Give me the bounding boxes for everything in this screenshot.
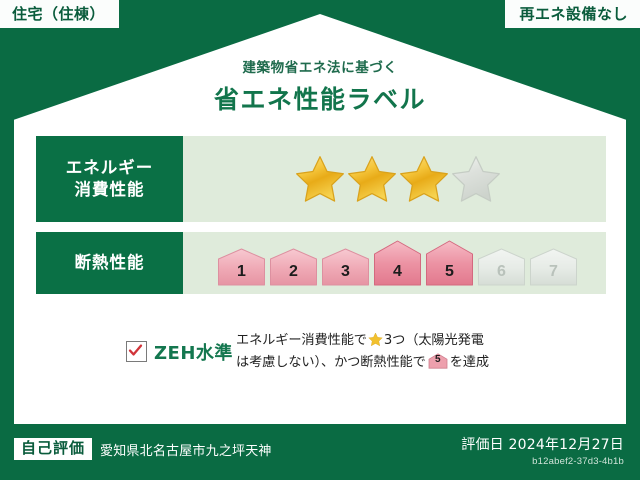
zeh-tag: ZEH水準 bbox=[36, 339, 236, 365]
house-level-scale: 1234567 bbox=[217, 240, 578, 286]
energy-rating-body bbox=[183, 136, 606, 222]
zeh-desc-part1: エネルギー消費性能で bbox=[236, 333, 367, 348]
energy-label-line2: 消費性能 bbox=[75, 179, 145, 201]
house-level-number: 5 bbox=[428, 352, 448, 369]
house-level-2: 2 bbox=[269, 248, 318, 286]
property-address: 愛知県北名古屋市九之坪天神 bbox=[100, 440, 272, 459]
house-level-number: 1 bbox=[217, 263, 266, 281]
energy-performance-row: エネルギー 消費性能 bbox=[36, 136, 606, 222]
house-level-number: 6 bbox=[477, 263, 526, 281]
insulation-label-line1: 断熱性能 bbox=[75, 252, 145, 274]
zeh-standard-block: ZEH水準 エネルギー消費性能で3つ（太陽光発電 は考慮しない）、かつ断熱性能で… bbox=[36, 330, 606, 374]
zeh-desc-part4: を達成 bbox=[450, 355, 489, 370]
zeh-standard-name: ZEH水準 bbox=[154, 339, 233, 365]
insulation-performance-row: 断熱性能 1234567 bbox=[36, 232, 606, 294]
house-level-number: 5 bbox=[425, 263, 474, 281]
self-evaluation-badge: 自己評価 bbox=[14, 438, 92, 460]
insulation-performance-label: 断熱性能 bbox=[36, 232, 183, 294]
house-level-number: 4 bbox=[373, 263, 422, 281]
footer-left-group: 自己評価 愛知県北名古屋市九之坪天神 bbox=[14, 438, 272, 460]
house-level-5: 5 bbox=[425, 240, 474, 286]
footer-right-group: 評価日 2024年12月27日 b12abef2-37d3-4b1b bbox=[461, 434, 624, 467]
insulation-rating-body: 1234567 bbox=[183, 232, 606, 294]
house-level-number: 2 bbox=[269, 263, 318, 281]
house-level-7: 7 bbox=[529, 248, 578, 286]
building-type-tag: 住宅（住棟） bbox=[0, 0, 119, 28]
metrics-container: エネルギー 消費性能 断熱性能 1234567 bbox=[36, 136, 606, 304]
zeh-desc-part3: は考慮しない）、かつ断熱性能で bbox=[236, 355, 426, 370]
label-title-block: 建築物省エネ法に基づく 省エネ性能ラベル bbox=[0, 56, 640, 116]
label-footer: 自己評価 愛知県北名古屋市九之坪天神 評価日 2024年12月27日 b12ab… bbox=[0, 424, 640, 480]
zeh-description: エネルギー消費性能で3つ（太陽光発電 は考慮しない）、かつ断熱性能で5を達成 bbox=[236, 330, 606, 374]
house-level-1: 1 bbox=[217, 248, 266, 286]
evaluation-id: b12abef2-37d3-4b1b bbox=[461, 456, 624, 467]
energy-performance-label: エネルギー 消費性能 bbox=[36, 136, 183, 222]
star-icon-empty bbox=[451, 154, 501, 204]
label-subtitle: 建築物省エネ法に基づく bbox=[0, 56, 640, 76]
house-level-4: 4 bbox=[373, 240, 422, 286]
zeh-desc-part2: 3つ（太陽光発電 bbox=[384, 333, 484, 348]
label-title: 省エネ性能ラベル bbox=[0, 80, 640, 116]
zeh-checkbox[interactable] bbox=[126, 341, 147, 362]
energy-performance-label: 住宅（住棟） 再エネ設備なし 建築物省エネ法に基づく 省エネ性能ラベル エネルギ… bbox=[0, 0, 640, 480]
house-level-number: 7 bbox=[529, 263, 578, 281]
energy-label-line1: エネルギー bbox=[66, 157, 154, 179]
house-icon: 5 bbox=[428, 353, 448, 369]
house-level-6: 6 bbox=[477, 248, 526, 286]
star-icon bbox=[368, 332, 383, 347]
star-icon-filled bbox=[347, 154, 397, 204]
evaluation-date: 評価日 2024年12月27日 bbox=[461, 434, 624, 454]
star-rating bbox=[295, 154, 501, 204]
house-level-3: 3 bbox=[321, 248, 370, 286]
house-level-number: 3 bbox=[321, 263, 370, 281]
checkmark-icon bbox=[128, 343, 143, 358]
renewable-equipment-tag: 再エネ設備なし bbox=[505, 0, 640, 28]
star-icon-filled bbox=[295, 154, 345, 204]
star-icon-filled bbox=[399, 154, 449, 204]
